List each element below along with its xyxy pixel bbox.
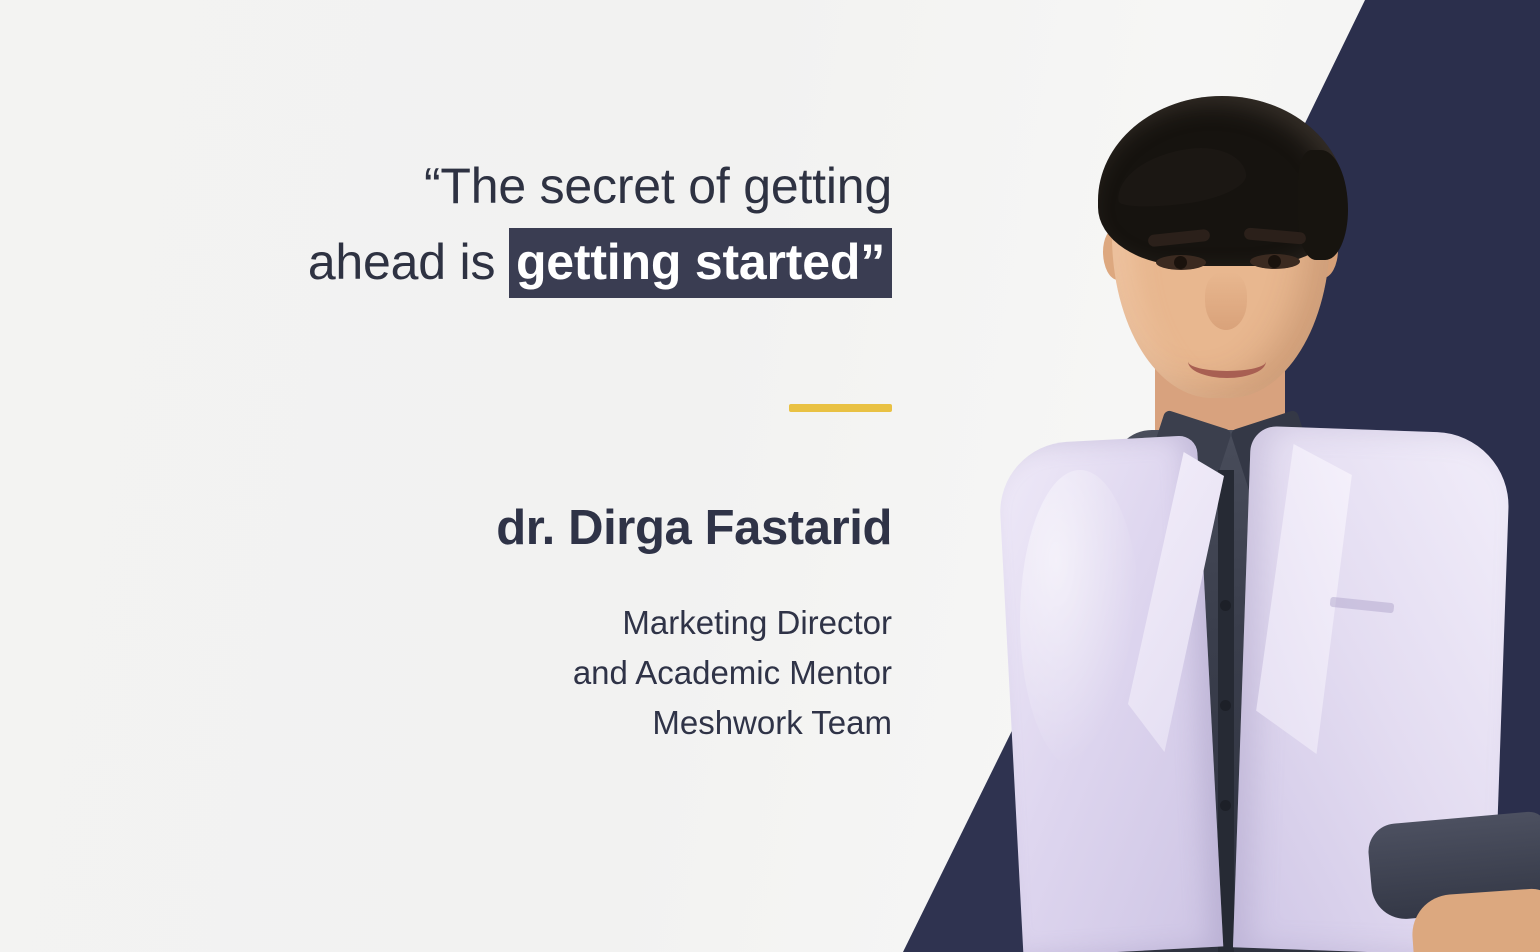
quote-highlight: getting started” xyxy=(509,228,892,298)
portrait-shirt-button xyxy=(1220,700,1231,711)
portrait-nose xyxy=(1205,272,1247,330)
portrait-shirt-placket xyxy=(1218,470,1234,952)
portrait-shirt-button xyxy=(1220,800,1231,811)
portrait-mouth xyxy=(1188,345,1266,378)
speaker-portrait xyxy=(900,0,1540,952)
quote-slide: “The secret of getting ahead is getting … xyxy=(0,0,1540,952)
speaker-name: dr. Dirga Fastarid xyxy=(150,500,892,556)
quote-line-2: ahead is getting started” xyxy=(150,224,892,300)
portrait-shoulder-highlight xyxy=(1020,470,1140,770)
portrait-shirt-button xyxy=(1220,600,1231,611)
speaker-role-line-1: Marketing Director xyxy=(150,598,892,648)
quote-line-2-prefix: ahead is xyxy=(308,234,509,290)
speaker-role: Marketing Director and Academic Mentor M… xyxy=(150,598,892,748)
portrait-pupil-right xyxy=(1268,255,1281,268)
speaker-role-line-2: and Academic Mentor xyxy=(150,648,892,698)
text-column: “The secret of getting ahead is getting … xyxy=(150,0,892,952)
quote-text: “The secret of getting ahead is getting … xyxy=(150,148,892,300)
portrait-pupil-left xyxy=(1174,256,1187,269)
speaker-role-line-3: Meshwork Team xyxy=(150,698,892,748)
portrait-hair-side xyxy=(1298,150,1348,260)
accent-divider xyxy=(789,404,892,412)
quote-line-1: “The secret of getting xyxy=(150,148,892,224)
